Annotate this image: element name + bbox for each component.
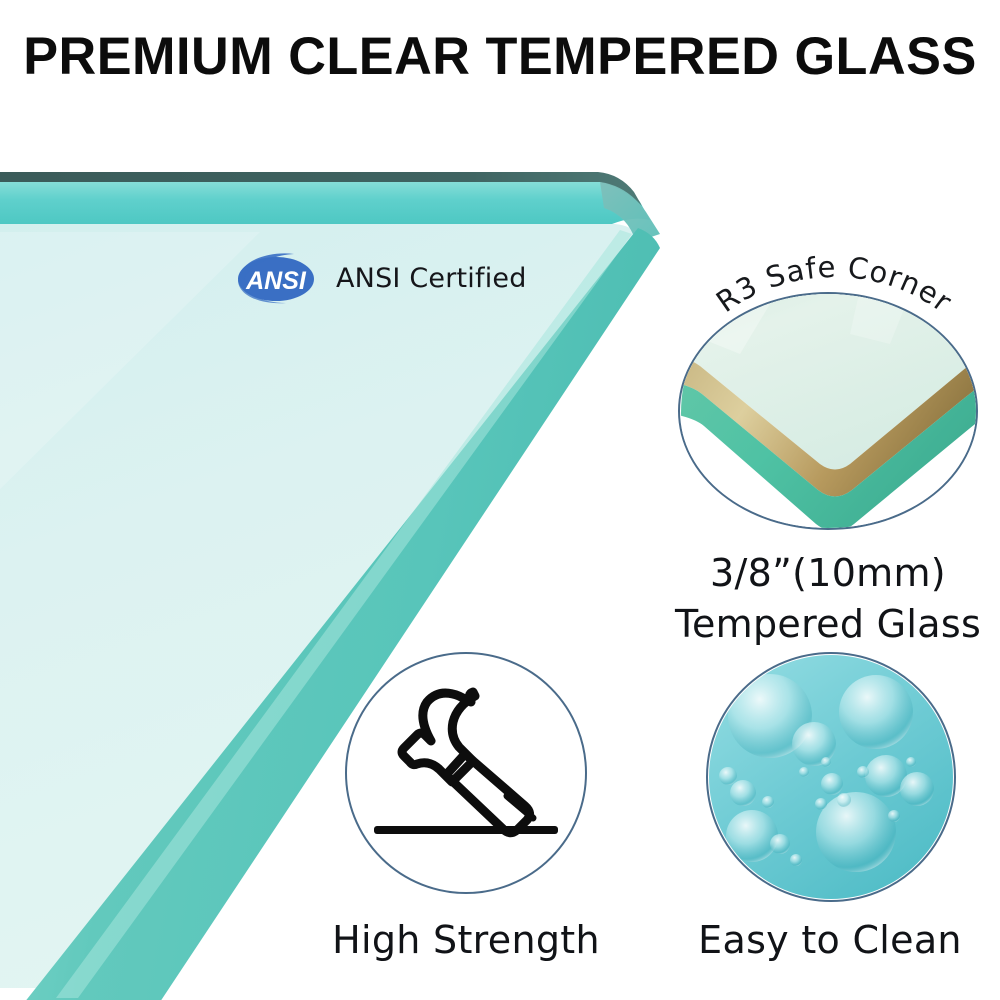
product-infographic: PREMIUM CLEAR TEMPERED GLASS <box>0 0 1000 1000</box>
corner-caption-line1: 3/8”(10mm) <box>632 548 1000 599</box>
ansi-logo-icon: ANSI <box>228 250 320 306</box>
corner-caption: 3/8”(10mm) Tempered Glass <box>632 548 1000 649</box>
ansi-logo-text: ANSI <box>245 267 307 295</box>
corner-caption-line2: Tempered Glass <box>632 599 1000 650</box>
clean-circle <box>706 652 956 902</box>
strength-caption: High Strength <box>296 918 636 962</box>
page-title: PREMIUM CLEAR TEMPERED GLASS <box>8 26 993 87</box>
ansi-certified-label: ANSI Certified <box>336 263 527 294</box>
ansi-certification-badge: ANSI ANSI Certified <box>228 250 527 306</box>
glass-corner-closeup-icon <box>680 294 978 530</box>
clean-caption: Easy to Clean <box>660 918 1000 962</box>
strength-circle <box>345 652 587 894</box>
corner-closeup-circle <box>678 292 978 530</box>
water-bubbles-icon <box>708 654 954 900</box>
hammer-icon <box>347 654 585 892</box>
